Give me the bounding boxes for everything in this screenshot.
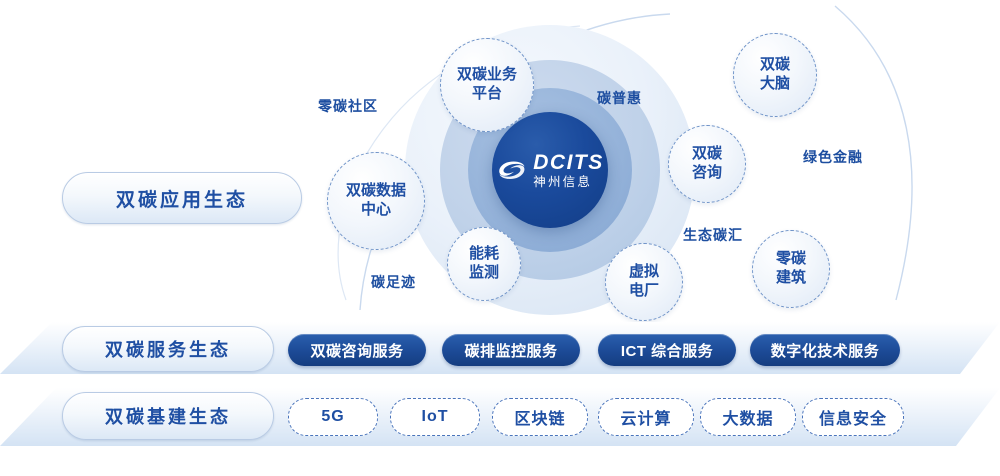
bubble-brain-line2: 大脑 [760,75,790,92]
bubble-energy-monitor-line1: 能耗 [469,245,499,262]
infra-pill-information-security-label: 信息安全 [819,405,887,429]
bubble-virtual-plant-line1: 虚拟 [629,263,659,280]
bubble-consulting-line1: 双碳 [692,145,722,162]
service-pill-digital-technology-label: 数字化技术服务 [771,340,880,361]
service-pill-emission-monitoring-label: 碳排监控服务 [464,340,557,361]
infra-pill-cloud-computing[interactable]: 云计算 [598,398,694,436]
brand-logo-en: DCITS [533,152,604,173]
service-pill-ict-label: ICT 综合服务 [621,340,713,361]
tier-label-infrastructure-text: 双碳基建生态 [105,403,231,429]
tier-label-infrastructure: 双碳基建生态 [62,392,274,440]
infra-pill-iot-label: IoT [422,408,449,426]
service-pill-consulting[interactable]: 双碳咨询服务 [288,334,426,366]
infra-pill-blockchain-label: 区块链 [514,405,565,429]
bubble-zero-carbon-building[interactable]: 零碳 建筑 [752,230,830,308]
infra-pill-5g[interactable]: 5G [288,398,378,436]
infra-pill-big-data[interactable]: 大数据 [700,398,796,436]
bubble-virtual-plant-line2: 电厂 [629,282,659,299]
bubble-virtual-plant[interactable]: 虚拟 电厂 [605,243,683,321]
bubble-zero-carbon-building-line1: 零碳 [776,250,806,267]
label-green-finance: 绿色金融 [803,147,863,167]
swoosh-logo-mark-icon [496,157,526,183]
label-zero-carbon-community: 零碳社区 [318,96,378,116]
tier-label-service: 双碳服务生态 [62,326,274,372]
brand-logo-cn: 神州信息 [533,176,604,189]
label-carbon-inclusion: 碳普惠 [597,88,642,108]
brand-logo-text: DCITS 神州信息 [533,152,604,189]
brand-core-circle: DCITS 神州信息 [492,112,608,228]
bubble-data-center[interactable]: 双碳数据 中心 [327,152,425,250]
bubble-consulting[interactable]: 双碳 咨询 [668,125,746,203]
bubble-zero-carbon-building-line2: 建筑 [776,269,806,286]
bubble-data-center-line1: 双碳数据 [346,182,406,199]
bubble-business-platform[interactable]: 双碳业务 平台 [440,38,534,132]
infra-pill-cloud-computing-label: 云计算 [620,405,671,429]
infra-pill-blockchain[interactable]: 区块链 [492,398,588,436]
service-pill-digital-technology[interactable]: 数字化技术服务 [750,334,900,366]
infra-pill-information-security[interactable]: 信息安全 [802,398,904,436]
bubble-energy-monitor-line2: 监测 [469,264,499,281]
label-carbon-footprint: 碳足迹 [371,272,416,292]
infra-pill-big-data-label: 大数据 [722,405,773,429]
service-pill-emission-monitoring[interactable]: 碳排监控服务 [442,334,580,366]
bubble-brain-line1: 双碳 [760,56,790,73]
brand-logo: DCITS 神州信息 [496,152,604,189]
tier-label-application: 双碳应用生态 [62,172,302,224]
bubble-brain[interactable]: 双碳 大脑 [733,33,817,117]
eco-system-infographic: 双碳应用生态 DCITS 神州信息 双碳业务 平台 双碳 [0,0,1000,476]
service-pill-ict[interactable]: ICT 综合服务 [598,334,736,366]
bubble-energy-monitor[interactable]: 能耗 监测 [447,227,521,301]
bubble-data-center-line2: 中心 [361,201,391,218]
infra-pill-iot[interactable]: IoT [390,398,480,436]
infra-pill-5g-label: 5G [321,408,344,426]
tier-label-application-text: 双碳应用生态 [116,185,248,212]
tier-label-service-text: 双碳服务生态 [105,336,231,362]
bubble-business-platform-line1: 双碳业务 [457,66,517,83]
bubble-business-platform-line2: 平台 [472,85,502,102]
label-ecological-carbon-sink: 生态碳汇 [683,225,743,245]
bubble-consulting-line2: 咨询 [692,164,722,181]
service-pill-consulting-label: 双碳咨询服务 [310,340,403,361]
